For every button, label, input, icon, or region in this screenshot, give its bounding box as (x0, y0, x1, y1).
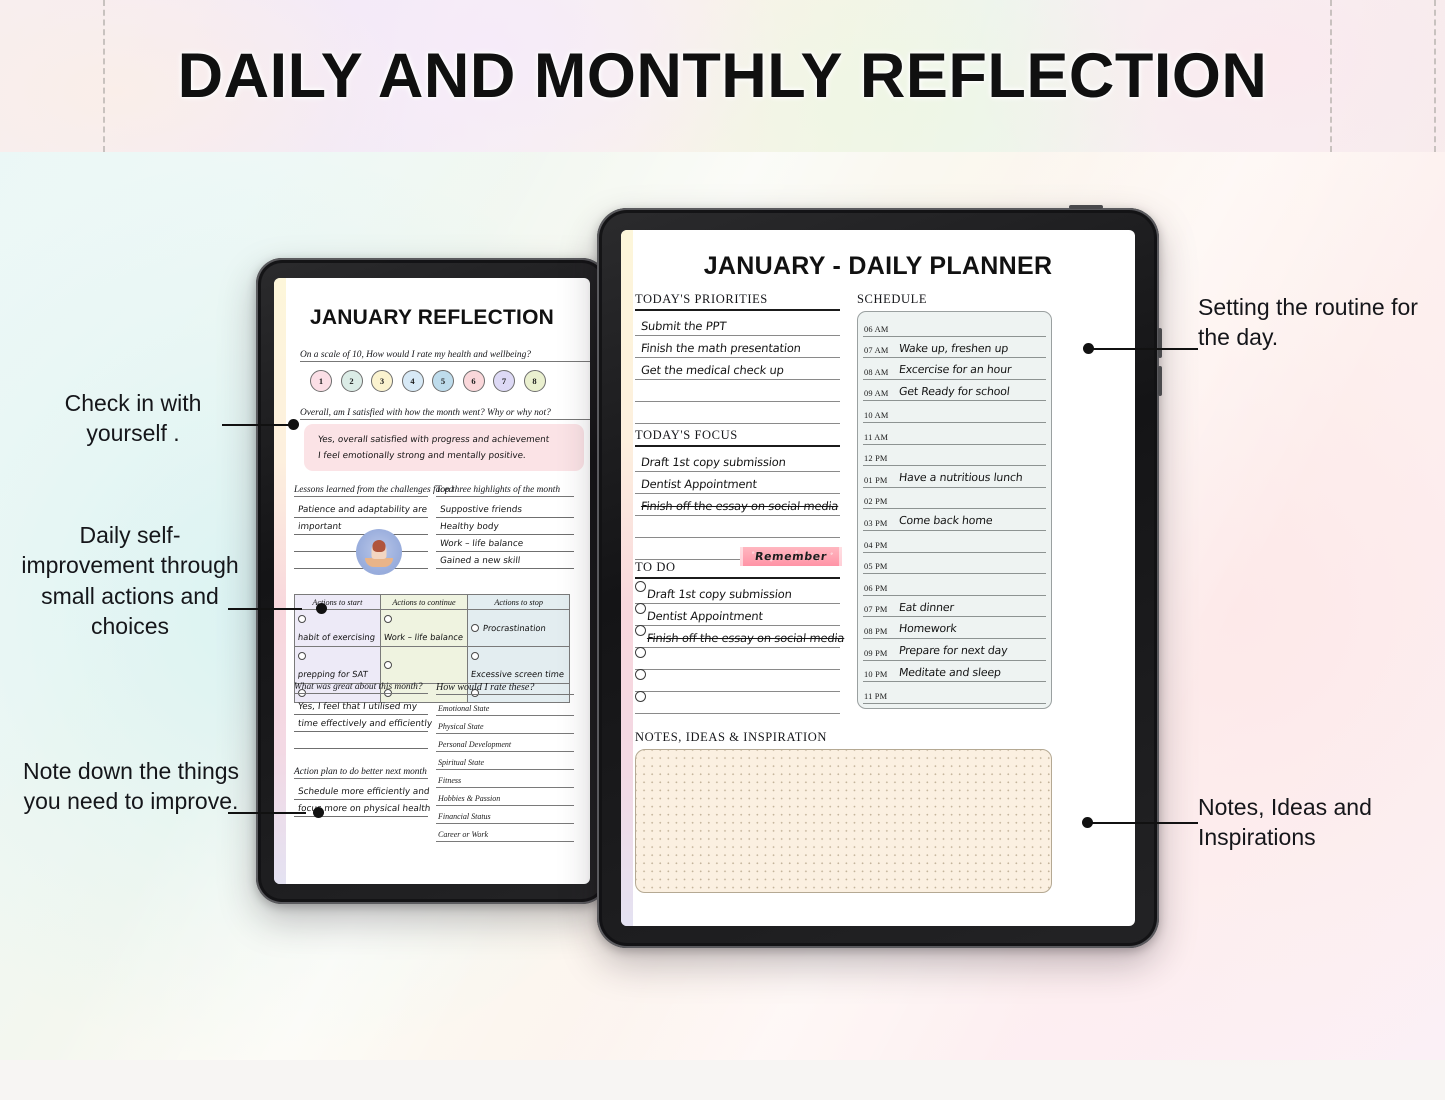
lessons-learned-block: Lessons learned from the challenges face… (294, 485, 428, 569)
schedule-row[interactable]: 09 PMPrepare for next day (863, 639, 1046, 661)
checkbox-circle-icon[interactable] (635, 581, 646, 592)
how-rate-label: Physical State (438, 722, 484, 731)
schedule-time-label: 11 AM (864, 433, 888, 442)
priority-line[interactable]: Get the medical check up (635, 358, 840, 380)
actions-table-header-row: Actions to start Actions to continue Act… (295, 595, 570, 610)
todo-lines[interactable]: Draft 1st copy submissionDentist Appoint… (635, 582, 840, 714)
todo-line-text: Dentist Appointment (646, 609, 763, 623)
great-line: Yes, I feel that I utilised my (294, 698, 428, 715)
how-rate-heading: How would I rate these? (436, 682, 574, 695)
checkbox-circle-icon[interactable] (384, 661, 392, 669)
how-rate-label: Financial Status (438, 812, 491, 821)
leader-line-notes-ideas (1090, 822, 1198, 824)
focus-line-text: Draft 1st copy submission (640, 455, 786, 469)
how-rate-row[interactable]: Financial Status (436, 806, 574, 824)
how-rate-row[interactable]: Physical State (436, 716, 574, 734)
great-line: time effectively and efficiently (294, 715, 428, 732)
focus-line-text: Dentist Appointment (640, 477, 757, 491)
focus-heading: TODAY'S FOCUS (635, 428, 840, 447)
overall-answer-line: I feel emotionally strong and mentally p… (317, 451, 584, 461)
highlight-text: Work – life balance (439, 539, 523, 549)
schedule-row[interactable]: 07 PMEat dinner (863, 596, 1046, 618)
priority-line-text: Finish the math presentation (640, 341, 801, 355)
how-rate-row[interactable]: Emotional State (436, 698, 574, 716)
highlight-text: Healthy body (439, 522, 499, 532)
actions-table-cell-text: Procrastination (483, 623, 547, 633)
todo-block: TO DO Remember Draft 1st copy submission… (635, 560, 840, 714)
highlight-line: Suppostive friends (436, 501, 574, 518)
notes-block: NOTES, IDEAS & INSPIRATION (635, 730, 1052, 893)
rating-circle-2[interactable]: 2 (341, 370, 363, 392)
schedule-row[interactable]: 08 PMHomework (863, 617, 1046, 639)
focus-line-text: Finish off the essay on social media (640, 499, 839, 513)
checkbox-circle-icon[interactable] (298, 652, 306, 660)
tablet-device-planner: JANUARY - DAILY PLANNER TODAY'S PRIORITI… (597, 208, 1159, 948)
lessons-lines[interactable]: Patience and adaptability are important (294, 501, 428, 569)
schedule-row[interactable]: 07 AMWake up, freshen up (863, 337, 1046, 359)
checkbox-circle-icon[interactable] (471, 624, 479, 632)
rating-circle-3[interactable]: 3 (371, 370, 393, 392)
volume-down-button[interactable] (1158, 366, 1162, 396)
how-rate-row[interactable]: Fitness (436, 770, 574, 788)
how-rate-label: Emotional State (438, 704, 489, 713)
schedule-time-label: 05 PM (864, 562, 888, 571)
schedule-entry-text: Come back home (898, 514, 993, 527)
how-rate-label: Spiritual State (438, 758, 484, 767)
rating-circle-4[interactable]: 4 (402, 370, 424, 392)
lessons-line: Patience and adaptability are (294, 501, 428, 518)
actions-start-header: Actions to start (295, 595, 381, 610)
todo-heading-row: TO DO Remember (635, 560, 840, 579)
schedule-time-label: 11 PM (864, 692, 887, 701)
how-rate-label: Personal Development (438, 740, 511, 749)
overall-answer-line: Yes, overall satisfied with progress and… (317, 435, 584, 445)
notes-heading: NOTES, IDEAS & INSPIRATION (635, 730, 1052, 745)
lessons-line-text: Patience and adaptability are (297, 505, 427, 515)
checkbox-circle-icon[interactable] (635, 669, 646, 680)
checkbox-circle-icon[interactable] (635, 647, 646, 658)
priority-line[interactable] (635, 380, 840, 402)
checkbox-circle-icon[interactable] (635, 691, 646, 702)
schedule-entry-text: Prepare for next day (898, 644, 1008, 657)
rating-circle-1[interactable]: 1 (310, 370, 332, 392)
tablet-screen-reflection[interactable]: JANUARY REFLECTION On a scale of 10, How… (274, 278, 590, 884)
how-rate-label: Hobbies & Passion (438, 794, 500, 803)
header-banner: DAILY AND MONTHLY REFLECTION (0, 0, 1445, 152)
schedule-block: SCHEDULE 06 AM07 AMWake up, freshen up08… (857, 292, 1052, 709)
schedule-row[interactable]: 08 AMExcercise for an hour (863, 358, 1046, 380)
schedule-time-label: 01 PM (864, 476, 888, 485)
priority-line[interactable] (635, 402, 840, 424)
how-rate-row[interactable]: Spiritual State (436, 752, 574, 770)
schedule-time-label: 10 AM (864, 411, 889, 420)
schedule-row[interactable]: 09 AMGet Ready for school (863, 380, 1046, 402)
highlight-text: Gained a new skill (439, 556, 520, 566)
schedule-time-label: 07 PM (864, 605, 888, 614)
remember-sticker: Remember (740, 547, 842, 566)
checkbox-circle-icon[interactable] (635, 603, 646, 614)
schedule-time-label: 09 AM (864, 389, 889, 398)
leader-dot-setting-routine (1083, 343, 1094, 354)
schedule-row[interactable]: 04 PM (863, 531, 1046, 553)
priority-line[interactable]: Submit the PPT (635, 314, 840, 336)
tablet-device-reflection: JANUARY REFLECTION On a scale of 10, How… (256, 258, 608, 904)
schedule-time-label: 06 PM (864, 584, 888, 593)
daily-planner-page: JANUARY - DAILY PLANNER TODAY'S PRIORITI… (621, 230, 1135, 926)
rating-circle-6[interactable]: 6 (463, 370, 485, 392)
schedule-row[interactable]: 03 PMCome back home (863, 509, 1046, 531)
schedule-row[interactable]: 06 PM (863, 574, 1046, 596)
leader-dot-self-improvement (316, 603, 327, 614)
priority-line[interactable]: Finish the math presentation (635, 336, 840, 358)
action-plan-line: Schedule more efficiently and (294, 783, 428, 800)
todo-line[interactable] (635, 692, 840, 714)
schedule-row[interactable]: 10 AM (863, 401, 1046, 423)
rating-circle-5[interactable]: 5 (432, 370, 454, 392)
actions-table-cell-text: habit of exercising (297, 632, 375, 642)
schedule-time-label: 08 AM (864, 368, 889, 377)
lessons-line: important (294, 518, 428, 535)
todo-line[interactable]: Finish off the essay on social media (635, 626, 840, 648)
todo-line[interactable] (635, 670, 840, 692)
actions-table-cell[interactable] (380, 647, 468, 684)
actions-table-cell[interactable]: prepping for SAT (295, 647, 381, 684)
rating-circle-8[interactable]: 8 (524, 370, 546, 392)
checkbox-circle-icon[interactable] (471, 652, 479, 660)
callout-notes-ideas: Notes, Ideas and Inspirations (1198, 792, 1434, 853)
priority-line-text: Get the medical check up (640, 363, 784, 377)
schedule-entry-text: Wake up, freshen up (898, 342, 1008, 355)
leader-line-setting-routine (1090, 348, 1198, 350)
focus-line[interactable] (635, 516, 840, 538)
great-text: time effectively and efficiently (297, 719, 432, 729)
overall-answer-box[interactable]: Yes, overall satisfied with progress and… (304, 424, 584, 471)
page-title: DAILY AND MONTHLY REFLECTION (0, 40, 1445, 112)
health-rating-scale[interactable]: 12345678 (310, 370, 546, 392)
todays-focus-block: TODAY'S FOCUS Draft 1st copy submissionD… (635, 428, 840, 560)
schedule-row[interactable]: 06 AM (863, 315, 1046, 337)
meditation-illustration-icon (356, 529, 402, 575)
schedule-time-label: 10 PM (864, 670, 888, 679)
planner-title: JANUARY - DAILY PLANNER (621, 252, 1135, 281)
top-highlights-block: Top three highlights of the month Suppos… (436, 485, 574, 569)
schedule-entry-text: Get Ready for school (898, 385, 1010, 398)
leader-line-check-in (222, 424, 294, 426)
focus-line[interactable]: Draft 1st copy submission (635, 450, 840, 472)
leader-line-self-improvement (228, 608, 302, 610)
schedule-row[interactable]: 05 PM (863, 553, 1046, 575)
schedule-entry-text: Have a nutritious lunch (898, 471, 1023, 484)
great-text: Yes, I feel that I utilised my (297, 702, 417, 712)
actions-table-cell-text: Excessive screen time (471, 669, 565, 679)
great-heading: What was great about this month? (294, 682, 428, 694)
schedule-time-label: 02 PM (864, 497, 888, 506)
focus-line[interactable]: Finish off the essay on social media (635, 494, 840, 516)
leader-dot-check-in (288, 419, 299, 430)
actions-table-cell-text: prepping for SAT (297, 669, 368, 679)
callout-check-in: Check in with yourself . (22, 388, 244, 449)
schedule-entry-text: Meditate and sleep (898, 666, 1001, 679)
highlights-heading: Top three highlights of the month (436, 485, 574, 497)
highlight-line: Gained a new skill (436, 552, 574, 569)
schedule-row[interactable]: 10 PMMeditate and sleep (863, 661, 1046, 683)
schedule-row[interactable]: 12 PM (863, 445, 1046, 467)
actions-table-row[interactable]: prepping for SATExcessive screen time (295, 647, 570, 684)
volume-up-button[interactable] (1158, 328, 1162, 358)
schedule-row[interactable]: 02 PM (863, 488, 1046, 510)
schedule-time-label: 03 PM (864, 519, 888, 528)
actions-table-cell[interactable]: Excessive screen time (468, 647, 570, 684)
focus-lines[interactable]: Draft 1st copy submissionDentist Appoint… (635, 450, 840, 560)
schedule-entry-text: Excercise for an hour (898, 363, 1012, 376)
checkbox-circle-icon[interactable] (298, 615, 306, 623)
actions-continue-header: Actions to continue (380, 595, 468, 610)
how-rate-label: Fitness (438, 776, 461, 785)
how-rate-label: Career or Work (438, 830, 488, 839)
todo-line-text: Finish off the essay on social media (646, 631, 845, 645)
actions-table-cell[interactable]: habit of exercising (295, 610, 381, 647)
checkbox-circle-icon[interactable] (635, 625, 646, 636)
tablet-screen-planner[interactable]: JANUARY - DAILY PLANNER TODAY'S PRIORITI… (621, 230, 1135, 926)
action-plan-heading: Action plan to do better next month (294, 767, 428, 779)
schedule-grid[interactable]: 06 AM07 AMWake up, freshen up08 AMExcerc… (857, 311, 1052, 709)
priorities-heading: TODAY'S PRIORITIES (635, 292, 840, 311)
todo-line[interactable]: Draft 1st copy submission (635, 582, 840, 604)
todo-line[interactable]: Dentist Appointment (635, 604, 840, 626)
schedule-time-label: 12 PM (864, 454, 888, 463)
schedule-time-label: 06 AM (864, 325, 889, 334)
remember-sticker-label: Remember (754, 550, 828, 563)
great-line (294, 732, 428, 749)
overall-question: Overall, am I satisfied with how the mon… (300, 408, 590, 420)
actions-table-cell[interactable]: Procrastination (468, 610, 570, 647)
great-about-month-block: What was great about this month? Yes, I … (294, 682, 428, 749)
checkbox-circle-icon[interactable] (384, 615, 392, 623)
scale-question: On a scale of 10, How would I rate my he… (300, 350, 590, 362)
schedule-time-label: 08 PM (864, 627, 888, 636)
schedule-time-label: 07 AM (864, 346, 889, 355)
callout-note-down: Note down the things you need to improve… (20, 756, 242, 817)
schedule-entry-text: Homework (898, 622, 957, 635)
priorities-lines[interactable]: Submit the PPTFinish the math presentati… (635, 314, 840, 424)
actions-stop-header: Actions to stop (468, 595, 570, 610)
schedule-row[interactable]: 11 AM (863, 423, 1046, 445)
how-would-i-rate-block: How would I rate these? Emotional StateP… (436, 682, 574, 842)
action-plan-text: Schedule more efficiently and (297, 787, 429, 797)
highlight-text: Suppostive friends (439, 505, 522, 515)
monthly-reflection-page: JANUARY REFLECTION On a scale of 10, How… (274, 278, 590, 884)
how-rate-row[interactable]: Personal Development (436, 734, 574, 752)
power-button[interactable] (1069, 205, 1103, 209)
schedule-time-label: 09 PM (864, 649, 888, 658)
schedule-row[interactable]: 11 PM (863, 682, 1046, 704)
focus-line[interactable]: Dentist Appointment (635, 472, 840, 494)
callout-daily-self-improvement: Daily self-improvement through small act… (16, 520, 244, 641)
callout-setting-routine: Setting the routine for the day. (1198, 292, 1428, 353)
reflection-title: JANUARY REFLECTION (274, 306, 590, 330)
todo-heading: TO DO (635, 560, 676, 574)
how-rate-row[interactable]: Career or Work (436, 824, 574, 842)
how-rate-rows[interactable]: Emotional StatePhysical StatePersonal De… (436, 698, 574, 842)
highlight-line: Work – life balance (436, 535, 574, 552)
actions-table-cell[interactable]: Work – life balance (380, 610, 468, 647)
leader-dot-notes-ideas (1082, 817, 1093, 828)
todays-priorities-block: TODAY'S PRIORITIES Submit the PPTFinish … (635, 292, 840, 424)
leader-dot-note-down (313, 807, 324, 818)
actions-table-row[interactable]: habit of exercisingWork – life balancePr… (295, 610, 570, 647)
schedule-heading: SCHEDULE (857, 292, 1052, 307)
great-lines[interactable]: Yes, I feel that I utilised my time effe… (294, 698, 428, 749)
todo-line-text: Draft 1st copy submission (646, 587, 792, 601)
lessons-heading: Lessons learned from the challenges face… (294, 485, 428, 497)
rating-circle-7[interactable]: 7 (493, 370, 515, 392)
highlight-line: Healthy body (436, 518, 574, 535)
notes-dotted-pad[interactable] (635, 749, 1052, 893)
actions-table-cell-text: Work – life balance (383, 632, 463, 642)
leader-line-note-down (228, 812, 306, 814)
schedule-time-label: 04 PM (864, 541, 888, 550)
priority-line-text: Submit the PPT (640, 319, 727, 333)
highlights-lines[interactable]: Suppostive friends Healthy body Work – l… (436, 501, 574, 569)
schedule-row[interactable]: 01 PMHave a nutritious lunch (863, 466, 1046, 488)
lessons-line-text: important (297, 522, 342, 532)
todo-line[interactable] (635, 648, 840, 670)
schedule-entry-text: Eat dinner (898, 601, 954, 614)
how-rate-row[interactable]: Hobbies & Passion (436, 788, 574, 806)
